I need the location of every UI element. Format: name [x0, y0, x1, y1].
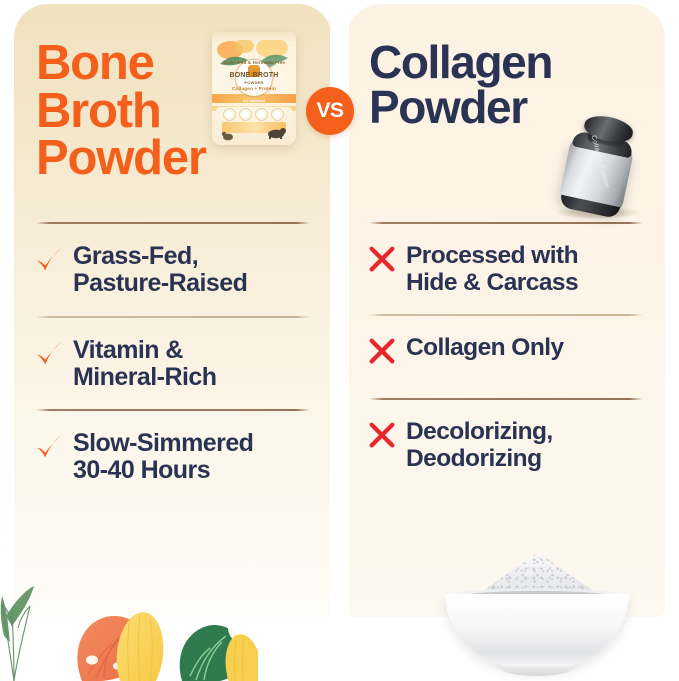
x-icon [367, 337, 397, 367]
feature-label: Grass-Fed, Pasture-Raised [73, 243, 247, 298]
right-comparison-panel: Collagen Powder Processed with Hide & Ca… [347, 4, 665, 617]
dog-illustration [265, 126, 287, 139]
pouch-benefit-icon [256, 109, 267, 120]
infographic-canvas: Bone Broth Powder Grass-Fed, Pasture-Rai… [0, 0, 679, 681]
pouch-brand-line: Grass-Fed & Hormone-Free [212, 60, 296, 65]
pouch-benefit-icon [240, 109, 251, 120]
check-icon [34, 245, 64, 275]
pouch-bottom-panel [216, 107, 292, 141]
feature-label: Collagen Only [406, 335, 564, 362]
feature-row: Vitamin & Mineral-Rich [14, 318, 332, 410]
pouch-label-title: BONE BROTH [212, 72, 296, 79]
pouch-label-tag: Collagen + Protein [212, 86, 296, 91]
bone-broth-pouch-image: Grass-Fed & Hormone-Free BONE BROTH POWD… [212, 32, 296, 145]
feature-row: Collagen Only [347, 316, 665, 398]
feature-row: Decolorizing, Deodorizing [347, 400, 665, 490]
feature-row: Processed with Hide & Carcass [347, 224, 665, 314]
right-feature-list: Processed with Hide & Carcass Collagen O… [347, 222, 665, 491]
feature-label: Vitamin & Mineral-Rich [73, 337, 216, 392]
versus-badge: VS [306, 87, 354, 135]
powder-bowl-photo [423, 558, 649, 676]
feature-row: Grass-Fed, Pasture-Raised [14, 224, 332, 316]
pouch-label-badge: All Natural [212, 98, 296, 103]
pouch-benefit-icon [272, 109, 283, 120]
bowl-foot [499, 666, 575, 676]
pouch-label-sub: POWDER [212, 80, 296, 85]
feature-label: Processed with Hide & Carcass [406, 243, 578, 296]
feature-label: Slow-Simmered 30-40 Hours [73, 430, 253, 485]
right-panel-header: Collagen Powder [347, 40, 665, 129]
check-icon [34, 339, 64, 369]
vegetable-leaves-illustration [0, 556, 258, 681]
cat-illustration [221, 128, 235, 139]
feature-label: Decolorizing, Deodorizing [406, 419, 553, 472]
bowl-body [445, 594, 629, 670]
pouch-benefit-icon [224, 109, 235, 120]
versus-badge-label: VS [316, 99, 343, 123]
x-icon [367, 421, 397, 451]
x-icon [367, 245, 397, 275]
feature-row: Slow-Simmered 30-40 Hours [14, 411, 332, 503]
check-icon [34, 432, 64, 462]
left-feature-list: Grass-Fed, Pasture-Raised Vitamin & Mine… [14, 222, 332, 503]
